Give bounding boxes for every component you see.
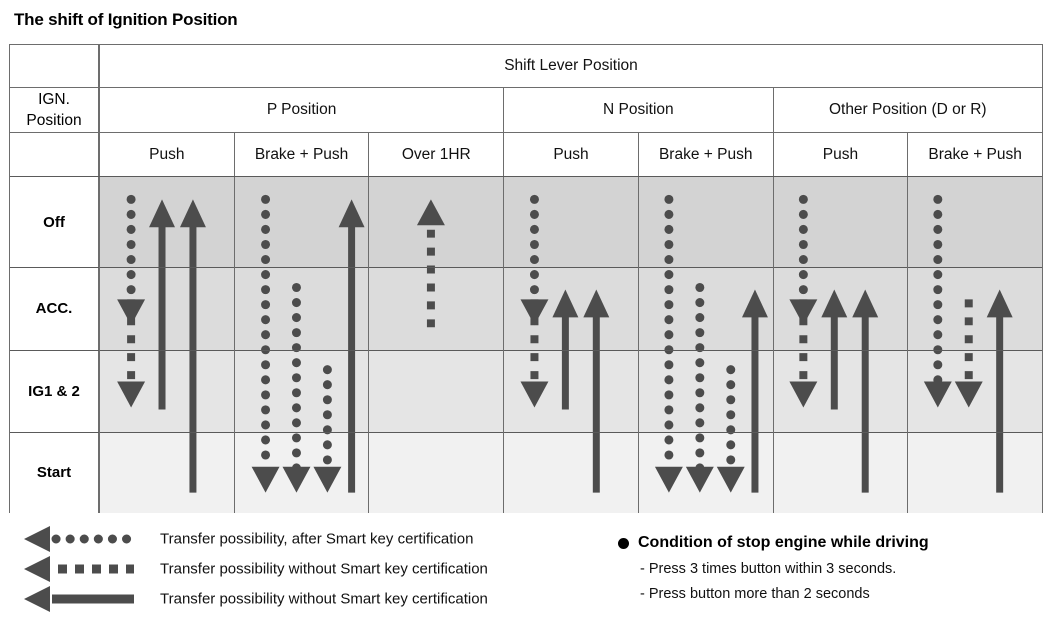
transition-arrow <box>149 199 175 409</box>
legend-label: Transfer possibility without Smart key c… <box>160 591 488 608</box>
legend-item: Transfer possibility without Smart key c… <box>12 554 572 584</box>
arrow-head-down <box>117 382 145 408</box>
column-separator <box>1042 177 1043 513</box>
legend-arrow-dashed-icon <box>12 554 152 584</box>
condition-title-row: Condition of stop engine while driving <box>618 534 1038 552</box>
row-label-0: Off <box>10 177 99 267</box>
arrow-head-up <box>339 199 365 227</box>
transition-arrow <box>987 289 1013 492</box>
row-separator <box>10 267 1042 268</box>
transition-arrow <box>852 289 878 492</box>
legend-item: Transfer possibility without Smart key c… <box>12 584 572 614</box>
arrow-head-up <box>417 199 445 225</box>
transition-arrow <box>924 199 952 407</box>
arrow-head-up <box>987 289 1013 317</box>
legend-label: Transfer possibility, after Smart key ce… <box>160 531 473 548</box>
column-separator <box>99 177 100 513</box>
transition-arrow <box>955 299 983 407</box>
arrow-head-up <box>852 289 878 317</box>
arrow-head-down <box>686 467 714 493</box>
legend-arrow-head <box>24 526 50 552</box>
column-separator <box>638 177 639 513</box>
arrow-head-down <box>955 382 983 408</box>
arrow-head-up <box>180 199 206 227</box>
transition-arrow <box>417 199 445 327</box>
legend-arrow-solid-icon <box>12 584 152 614</box>
transition-arrow <box>686 287 714 492</box>
transition-arrow <box>655 199 683 492</box>
arrow-head-up <box>149 199 175 227</box>
legend-arrow-head <box>24 556 50 582</box>
transition-arrow <box>180 199 206 492</box>
arrow-head-up <box>742 289 768 317</box>
row-label-text: ACC. <box>36 300 73 317</box>
row-separator <box>10 432 1042 433</box>
legend: Transfer possibility, after Smart key ce… <box>12 524 572 614</box>
column-separator <box>907 177 908 513</box>
row-separator <box>10 350 1042 351</box>
arrow-head-down <box>252 467 280 493</box>
legend-arrow-head <box>24 586 50 612</box>
legend-arrow-dotted-icon <box>12 524 152 554</box>
column-separator <box>503 177 504 513</box>
column-separator <box>773 177 774 513</box>
condition-panel: Condition of stop engine while driving -… <box>618 534 1038 602</box>
arrow-head-up <box>821 289 847 317</box>
arrow-head-up <box>552 289 578 317</box>
bullet-icon <box>618 538 629 549</box>
column-separator <box>234 177 235 513</box>
row-label-2: IG1 & 2 <box>10 350 99 432</box>
row-label-3: Start <box>10 432 99 513</box>
condition-title: Condition of stop engine while driving <box>638 534 929 552</box>
transition-arrow-layer <box>10 45 1042 512</box>
row-label-text: Off <box>43 214 65 231</box>
transition-arrow <box>252 199 280 492</box>
arrow-head-down <box>924 382 952 408</box>
transition-arrow <box>339 199 365 492</box>
row-label-text: Start <box>37 464 71 481</box>
arrow-head-down <box>655 467 683 493</box>
row-label-text: IG1 & 2 <box>28 383 80 400</box>
legend-label: Transfer possibility without Smart key c… <box>160 561 488 578</box>
condition-line-2: - Press button more than 2 seconds <box>640 586 1038 602</box>
row-label-1: ACC. <box>10 267 99 350</box>
arrow-head-down <box>789 382 817 408</box>
ignition-shift-table: IGN. Position Shift Lever Position P Pos… <box>9 44 1043 513</box>
arrow-head-down <box>313 467 341 493</box>
column-separator <box>368 177 369 513</box>
condition-line-1: - Press 3 times button within 3 seconds. <box>640 561 1038 577</box>
transition-arrow <box>283 287 311 492</box>
page-title: The shift of Ignition Position <box>14 10 237 30</box>
arrow-head-up <box>583 289 609 317</box>
transition-arrow <box>742 289 768 492</box>
arrow-head-down <box>717 467 745 493</box>
arrow-head-down <box>283 467 311 493</box>
transition-arrow <box>583 289 609 492</box>
legend-item: Transfer possibility, after Smart key ce… <box>12 524 572 554</box>
arrow-head-down <box>520 382 548 408</box>
